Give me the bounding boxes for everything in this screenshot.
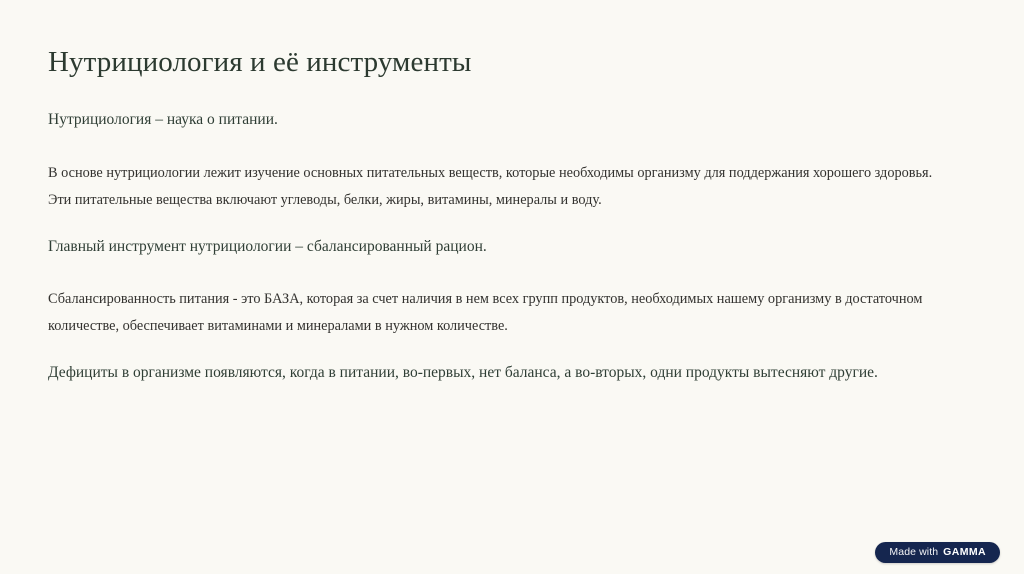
made-with-gamma-badge[interactable]: Made with GAMMA [875, 542, 1000, 564]
paragraph-main-tool: Главный инструмент нутрициологии – сбала… [48, 234, 933, 261]
paragraph-deficiencies: Дефициты в организме появляются, когда в… [48, 360, 933, 387]
page-title: Нутрициология и её инструменты [48, 44, 948, 81]
slide-body: Нутрициология – наука о питании. В основ… [48, 107, 938, 386]
badge-brand-label: GAMMA [943, 547, 986, 558]
slide-canvas: Нутрициология и её инструменты Нутрициол… [0, 0, 1024, 574]
paragraph-balance-base: Сбалансированность питания - это БАЗА, к… [48, 286, 933, 340]
paragraph-definition: Нутрициология – наука о питании. [48, 107, 933, 134]
badge-made-with-label: Made with [889, 547, 938, 558]
paragraph-nutrients-overview: В основе нутрициологии лежит изучение ос… [48, 160, 933, 214]
